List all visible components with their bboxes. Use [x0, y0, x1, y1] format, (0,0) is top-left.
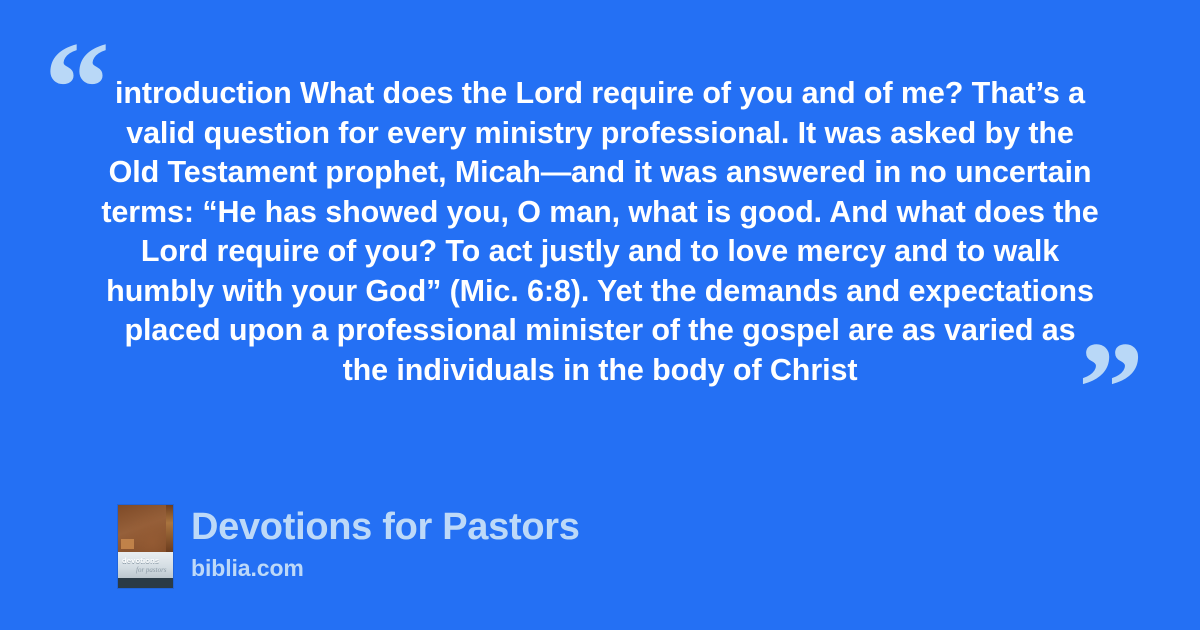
book-cover-spine: [166, 505, 173, 552]
quote-card: “ introduction What does the Lord requir…: [0, 0, 1200, 630]
book-cover-footer-strip: [118, 578, 173, 588]
closing-quote-icon: ”: [1078, 322, 1142, 454]
book-cover-accent-block: [121, 539, 134, 549]
book-title: Devotions for Pastors: [191, 505, 580, 549]
opening-quote-icon: “: [44, 22, 108, 154]
footer-attribution: devotions for pastors Devotions for Past…: [118, 505, 580, 588]
quote-text: introduction What does the Lord require …: [100, 74, 1100, 390]
book-cover-thumbnail[interactable]: devotions for pastors: [118, 505, 173, 588]
book-cover-band-title: devotions: [122, 556, 159, 565]
footer-text-group: Devotions for Pastors biblia.com: [191, 505, 580, 581]
book-cover-band-subtitle: for pastors: [136, 566, 167, 574]
site-name[interactable]: biblia.com: [191, 555, 580, 581]
